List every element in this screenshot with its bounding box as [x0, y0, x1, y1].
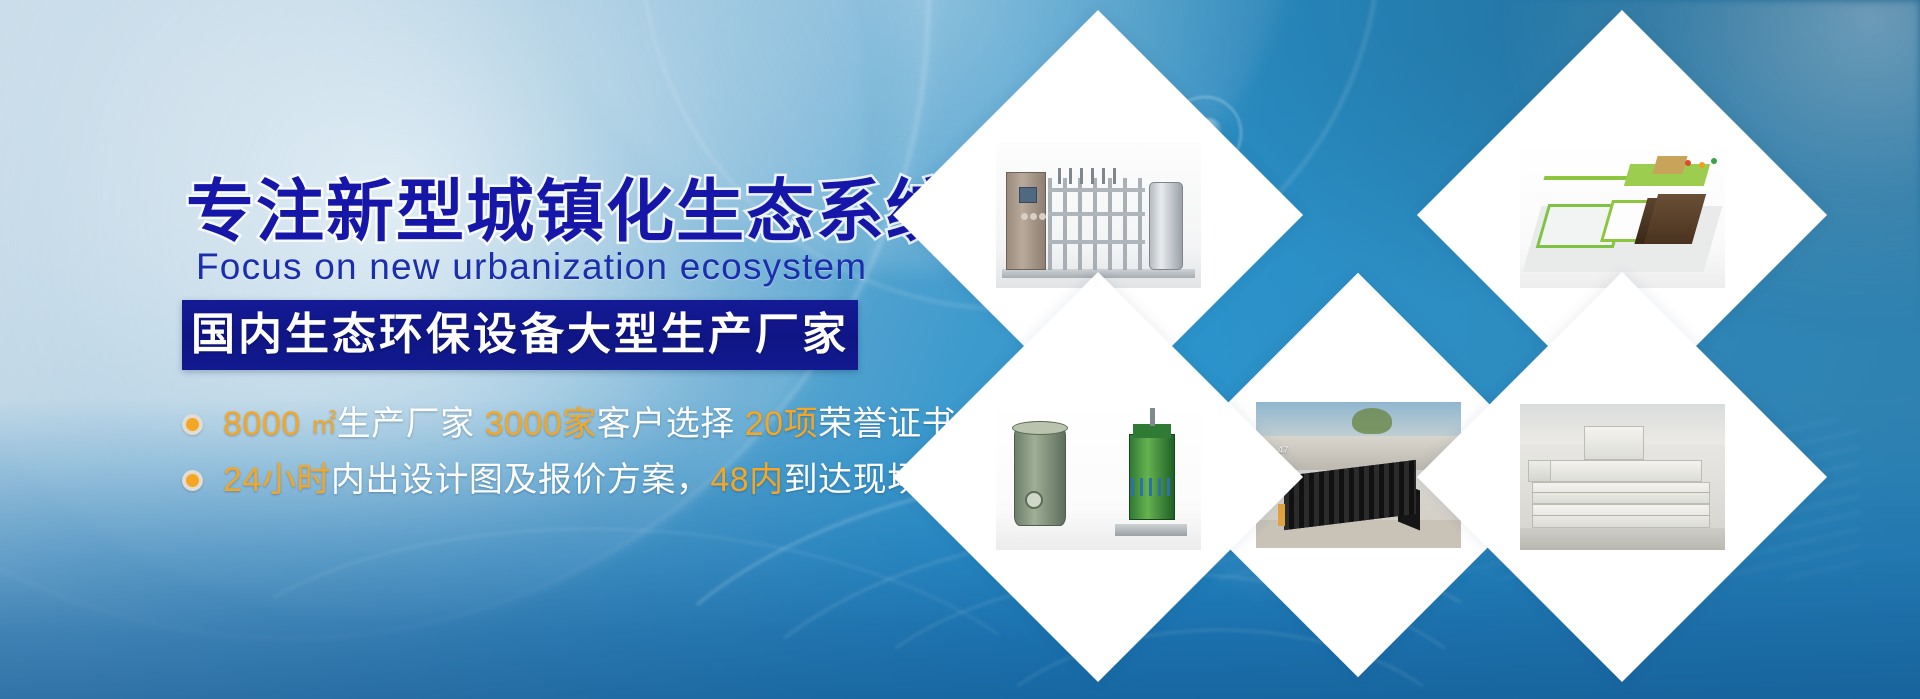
feature-list: 8000 ㎡生产厂家 3000家客户选择 20项荣誉证书 24小时内出设计图及报… [182, 400, 956, 512]
feature-line-1: 8000 ㎡生产厂家 3000家客户选择 20项荣誉证书 [223, 407, 956, 441]
tagline-ribbon: 国内生态环保设备大型生产厂家 [182, 300, 858, 370]
tagline-text: 国内生态环保设备大型生产厂家 [191, 313, 849, 357]
copy-block: 专注新型城镇化生态系统领域 Focus on new urbanization … [0, 0, 1000, 699]
feature-line-2: 24小时内出设计图及报价方案，48内到达现场 [223, 463, 922, 497]
list-item: 8000 ㎡生产厂家 3000家客户选择 20项荣誉证书 [182, 400, 956, 448]
photo-pump-station-units [996, 404, 1201, 550]
hero-banner: 专注新型城镇化生态系统领域 Focus on new urbanization … [0, 0, 1920, 699]
photo-eco-plant-model [1520, 142, 1725, 288]
photo-water-treatment-skid [996, 142, 1201, 288]
bullet-dot-icon [182, 470, 203, 491]
bullet-dot-icon [182, 414, 203, 435]
page-subtitle: Focus on new urbanization ecosystem [196, 248, 867, 285]
photo-concrete-panels [1520, 404, 1725, 550]
list-item: 24小时内出设计图及报价方案，48内到达现场 [182, 456, 956, 504]
product-diamond-grid: 39 478 216 9 [905, 20, 1920, 580]
